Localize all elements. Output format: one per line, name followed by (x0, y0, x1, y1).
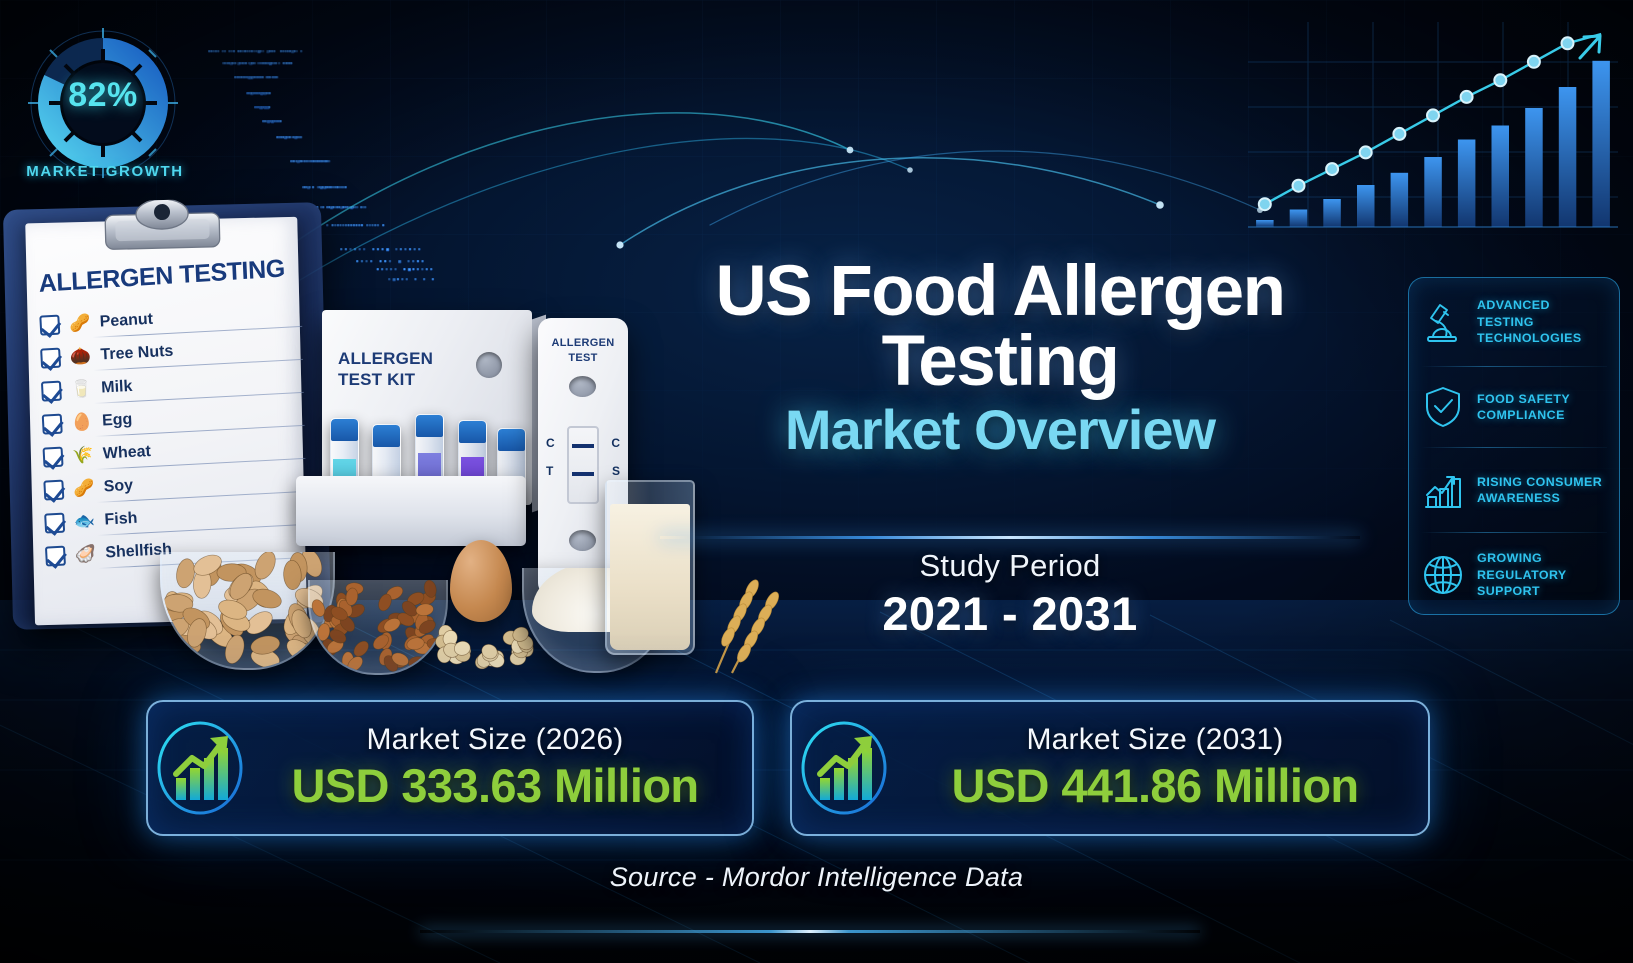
fish-icon: 🐟 (73, 512, 96, 530)
bottom-glow-line (420, 930, 1200, 933)
feature-label: FOOD SAFETYCOMPLIANCE (1477, 391, 1570, 424)
allergen-label: Peanut (99, 310, 153, 331)
chart-data-point (1528, 56, 1540, 68)
growth-bar-chart (1248, 22, 1618, 234)
feature-label: GROWINGREGULATORYSUPPORT (1477, 550, 1567, 599)
allergen-label: Tree Nuts (100, 342, 174, 364)
strip-mark-c-right: C (611, 436, 620, 450)
chart-data-point (1494, 74, 1506, 86)
feature-label: ADVANCEDTESTINGTECHNOLOGIES (1477, 297, 1582, 346)
strip-mark-s-right: S (612, 464, 620, 478)
milk (610, 504, 690, 650)
allergen-label: Soy (103, 476, 133, 496)
milk-icon: 🥛 (70, 380, 93, 398)
study-period-block: Study Period 2021 - 2031 (690, 548, 1330, 641)
allergen-checkbox[interactable] (40, 347, 61, 368)
milk-glass (605, 480, 695, 655)
feature-label: RISING CONSUMERAWARENESS (1477, 474, 1602, 507)
strip-mark-c-left: C (546, 436, 555, 450)
test-strip-result-window (567, 426, 599, 504)
chart-bar (1290, 210, 1308, 228)
gauge-label-text: MARKET GROWTH (10, 163, 200, 180)
chart-bar (1458, 140, 1476, 228)
chart-data-point (1293, 180, 1305, 192)
egg-icon: 🥚 (71, 413, 94, 431)
study-period-value: 2021 - 2031 (690, 586, 1330, 641)
result-band-t (572, 472, 594, 476)
shield-check-icon (1418, 382, 1468, 432)
vial-cap (373, 425, 400, 447)
stat-value: USD 441.86 Million (896, 758, 1414, 813)
test-strip-label: ALLERGENTEST (538, 336, 628, 366)
stat-card-market-size-2031[interactable]: Market Size (2031) USD 441.86 Million (790, 700, 1430, 836)
treenut-icon: 🌰 (69, 347, 92, 365)
feature-item-food-safety[interactable]: FOOD SAFETYCOMPLIANCE (1409, 367, 1619, 447)
allergen-label: Milk (101, 377, 133, 397)
allergen-checkbox[interactable] (41, 380, 62, 401)
result-band-c (572, 444, 594, 448)
growth-bar-chart-icon (1418, 465, 1468, 515)
microscope-icon (1418, 297, 1468, 347)
chart-bar (1391, 173, 1409, 227)
allergen-checkbox[interactable] (45, 545, 66, 566)
feature-item-regulatory-support[interactable]: GROWINGREGULATORYSUPPORT (1409, 533, 1619, 617)
page-subtitle: Market Overview (630, 401, 1370, 460)
allergen-checkbox[interactable] (39, 314, 60, 335)
stat-value: USD 333.63 Million (252, 758, 738, 813)
title-divider (660, 536, 1360, 539)
chart-bar (1323, 199, 1341, 227)
chart-data-point (1461, 91, 1473, 103)
vial-cap (331, 419, 358, 441)
test-strip-sample-well (569, 376, 596, 397)
page-title-line-2: Testing (630, 326, 1370, 398)
chart-bar (1559, 87, 1577, 227)
page-title-line-1: US Food Allergen (630, 258, 1370, 326)
chart-data-point (1326, 163, 1338, 175)
chart-bar (1357, 185, 1375, 227)
soybeans (425, 625, 535, 670)
allergen-checkbox[interactable] (43, 479, 64, 500)
wheat-icon: 🌾 (72, 446, 95, 464)
test-kit-label: ALLERGEN TEST KIT (338, 348, 488, 391)
chart-bar (1592, 61, 1610, 227)
vial-cap (498, 429, 525, 451)
stat-body: Market Size (2031) USD 441.86 Million (896, 723, 1428, 813)
stat-body: Market Size (2026) USD 333.63 Million (252, 723, 752, 813)
stat-label: Market Size (2031) (896, 723, 1414, 757)
chart-data-point (1427, 109, 1439, 121)
growth-chart-circle-icon (792, 709, 896, 827)
feature-item-advanced-testing[interactable]: ADVANCEDTESTINGTECHNOLOGIES (1409, 278, 1619, 366)
chart-bar (1492, 126, 1510, 228)
soy-icon: 🥜 (72, 479, 95, 497)
strip-mark-t-left: T (546, 464, 553, 478)
allergen-checkbox[interactable] (42, 446, 63, 467)
allergen-checkbox[interactable] (44, 512, 65, 533)
allergen-checkbox[interactable] (42, 413, 63, 434)
chart-bar (1525, 108, 1543, 227)
chart-data-point (1360, 146, 1372, 158)
vial-cap (416, 415, 443, 437)
growth-chart-circle-icon (148, 709, 252, 827)
peanuts (162, 552, 333, 667)
shellfish-icon: 🦪 (74, 545, 97, 563)
chart-bar (1424, 157, 1442, 227)
peanut-icon: 🥜 (68, 314, 91, 332)
study-period-label: Study Period (690, 548, 1330, 584)
feature-item-consumer-awareness[interactable]: RISING CONSUMERAWARENESS (1409, 448, 1619, 532)
chart-bar (1256, 220, 1274, 227)
chart-data-point (1562, 37, 1574, 49)
allergen-label: Egg (102, 410, 133, 430)
chart-data-point (1393, 128, 1405, 140)
hero-title-block: US Food Allergen Testing Market Overview (630, 258, 1370, 459)
vial-cap (459, 421, 486, 443)
stat-label: Market Size (2026) (252, 723, 738, 757)
chart-data-point (1259, 198, 1271, 210)
clipboard-clip-icon (87, 198, 238, 258)
test-kit-hole (476, 352, 502, 378)
features-panel: ADVANCEDTESTINGTECHNOLOGIES FOOD SAFETYC… (1408, 277, 1620, 615)
gauge-value-text: 82% (18, 76, 188, 115)
egg (450, 540, 512, 622)
allergen-label: Wheat (102, 442, 151, 462)
globe-icon (1418, 550, 1468, 600)
stat-card-market-size-2026[interactable]: Market Size (2026) USD 333.63 Million (146, 700, 754, 836)
source-attribution: Source - Mordor Intelligence Data (0, 862, 1633, 893)
allergen-label: Fish (104, 509, 138, 529)
